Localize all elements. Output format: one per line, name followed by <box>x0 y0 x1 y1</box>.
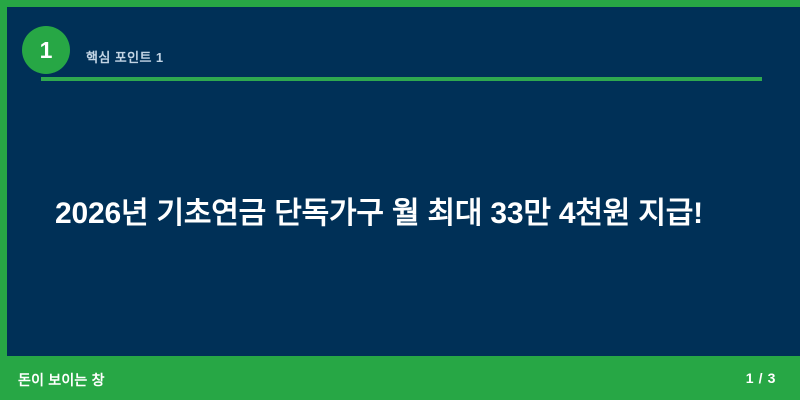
page-title: 2026년 기초연금 단독가구 월 최대 33만 4천원 지급! <box>0 192 800 236</box>
slide-header: 1 핵심 포인트 1 <box>0 7 800 85</box>
footer-page-indicator: 1 / 3 <box>746 370 776 386</box>
header-divider <box>41 77 762 81</box>
point-number-badge: 1 <box>22 26 70 74</box>
footer-brand-label: 돈이 보이는 창 <box>18 370 105 390</box>
header-label: 핵심 포인트 1 <box>86 47 163 66</box>
slide-footer: 돈이 보이는 창 1 / 3 <box>0 356 800 400</box>
top-accent-bar <box>0 0 800 7</box>
slide-body: 2026년 기초연금 단독가구 월 최대 33만 4천원 지급! <box>0 85 800 355</box>
slide-card: 1 핵심 포인트 1 2026년 기초연금 단독가구 월 최대 33만 4천원 … <box>0 0 800 400</box>
